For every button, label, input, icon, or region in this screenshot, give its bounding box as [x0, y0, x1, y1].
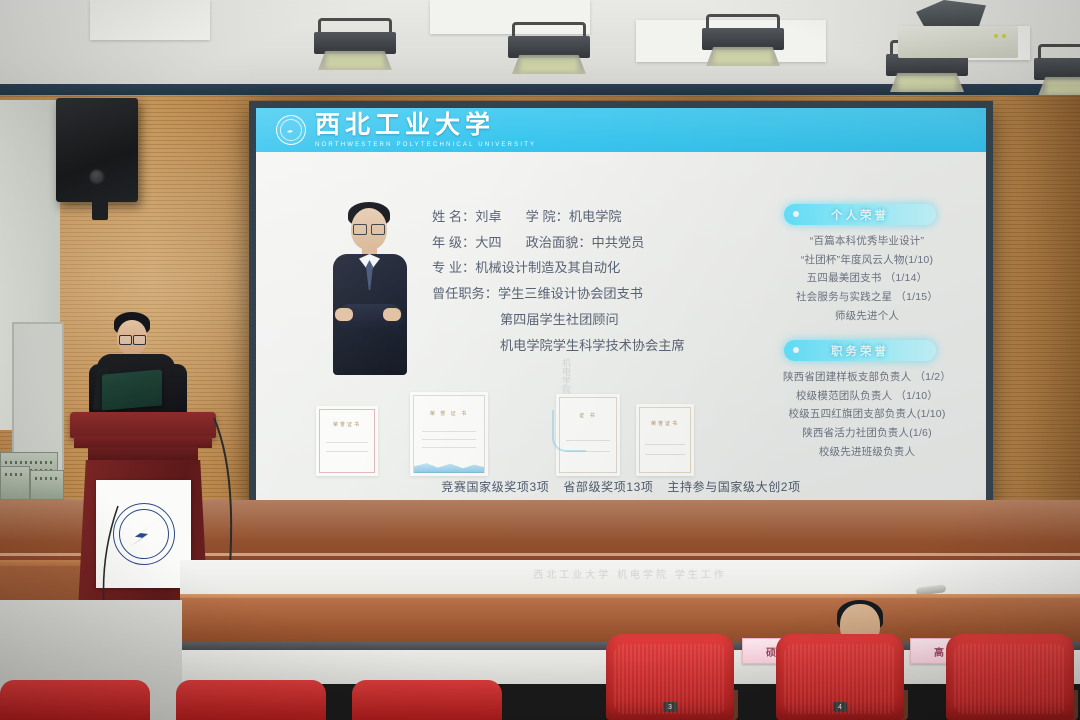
value-grade: 大四 — [475, 235, 501, 250]
stage-light — [506, 22, 592, 74]
slide-footer-stats: 竞赛国家级奖项3项 省部级奖项13项 主持参与国家级大创2项 — [256, 478, 986, 495]
panel-title-duty-honors: 职务荣誉 — [784, 340, 936, 361]
name-card-text: 硕 — [766, 644, 776, 659]
watermark-shape — [552, 410, 586, 452]
pill-dot-icon — [793, 211, 799, 217]
stage-light — [700, 14, 786, 66]
value-position-2: 第四届学生社团顾问 — [432, 307, 752, 333]
glasses-icon — [353, 224, 385, 233]
certificate-image: 荣 誉 证 书 — [410, 392, 488, 476]
portrait-hand — [335, 308, 353, 321]
lecture-hall-scene: 西北工业大学 NORTHWESTERN POLYTECHNICAL UNIVER… — [0, 0, 1080, 720]
list-item: 社会服务与实践之星 （1/15） — [762, 288, 972, 307]
panel-title-personal-honors: 个人荣誉 — [784, 204, 936, 225]
slide-watermark: 机电学院 — [552, 358, 612, 478]
list-item: “社团杯”年度风云人物(1/10) — [762, 251, 972, 270]
certificate-gallery: 荣誉证书 荣 誉 证 书 证 书 — [316, 384, 936, 476]
panel-title-text: 个人荣誉 — [831, 207, 889, 223]
value-name: 刘卓 — [475, 209, 501, 224]
certificate-title: 荣誉证书 — [636, 420, 694, 427]
value-college: 机电学院 — [569, 209, 622, 224]
projection-screen[interactable]: 西北工业大学 NORTHWESTERN POLYTECHNICAL UNIVER… — [256, 108, 986, 509]
info-row-grade: 年 级：大四政治面貌：中共党员 — [432, 230, 752, 256]
wall-speaker — [56, 98, 138, 202]
value-political-status: 中共党员 — [592, 235, 645, 250]
speaker-cone-icon — [89, 169, 105, 185]
info-row-major: 专 业：机械设计制造及其自动化 — [432, 255, 752, 281]
certificate-title: 荣誉证书 — [316, 421, 378, 428]
student-info-block: 姓 名：刘卓学 院：机电学院 年 级：大四政治面貌：中共党员 专 业：机械设计制… — [432, 204, 752, 358]
podium-top-surface — [70, 412, 216, 438]
stat-innovation-projects: 主持参与国家级大创2项 — [667, 480, 800, 494]
seat-number: 3 — [663, 702, 677, 712]
label-name: 姓 名： — [432, 209, 475, 224]
label-major: 专 业： — [432, 260, 475, 275]
value-position-3: 机电学院学生科学技术协会主席 — [432, 333, 752, 359]
certificate-title: 荣 誉 证 书 — [410, 410, 488, 417]
stage-light — [312, 18, 398, 70]
front-chair[interactable] — [0, 680, 150, 720]
equipment-cabinet — [0, 466, 30, 500]
list-item: 五四最美团支书 （1/14） — [762, 269, 972, 288]
audience-wall-text: 西北工业大学 机电学院 学生工作 — [180, 566, 1080, 581]
value-position-1: 学生三维设计协会团支书 — [498, 286, 643, 301]
wall-shadow — [1000, 95, 1080, 565]
student-portrait — [329, 200, 411, 375]
name-card-text: 高 — [934, 644, 944, 659]
projection-screen-frame: 西北工业大学 NORTHWESTERN POLYTECHNICAL UNIVER… — [249, 101, 993, 516]
lighting-rig — [898, 0, 1018, 70]
seat-number: 4 — [833, 702, 847, 712]
certificate-image: 荣誉证书 — [636, 404, 694, 476]
podium-logo-plate — [96, 480, 191, 588]
list-item: “百篇本科优秀毕业设计” — [762, 232, 972, 251]
pill-dot-icon — [793, 347, 799, 353]
front-chair[interactable] — [176, 680, 326, 720]
podium-university-seal-icon — [113, 503, 175, 565]
stat-national-awards: 竞赛国家级奖项3项 — [441, 480, 549, 494]
equipment-cabinet — [30, 470, 64, 500]
label-political-status: 政治面貌： — [526, 235, 592, 250]
front-chair[interactable] — [352, 680, 502, 720]
watermark-text: 机电学院 — [560, 358, 573, 394]
panel-personal-honors: 个人荣誉 “百篇本科优秀毕业设计” “社团杯”年度风云人物(1/10) 五四最美… — [762, 204, 972, 325]
list-item: 师级先进个人 — [762, 307, 972, 326]
auditorium-seat[interactable]: 4 — [776, 634, 904, 720]
label-grade: 年 级： — [432, 235, 475, 250]
auditorium-seat[interactable]: 3 — [606, 634, 734, 720]
value-major: 机械设计制造及其自动化 — [475, 260, 620, 275]
presenter-glasses-icon — [119, 335, 146, 343]
info-row-name: 姓 名：刘卓学 院：机电学院 — [432, 204, 752, 230]
ceiling-panel — [90, 0, 210, 40]
portrait-hand — [383, 308, 401, 321]
stat-provincial-awards: 省部级奖项13项 — [563, 480, 653, 494]
podium-neck — [88, 447, 198, 461]
certificate-image: 荣誉证书 — [316, 406, 378, 476]
personal-honors-list: “百篇本科优秀毕业设计” “社团杯”年度风云人物(1/10) 五四最美团支书 （… — [762, 232, 972, 325]
presentation-slide: 西北工业大学 NORTHWESTERN POLYTECHNICAL UNIVER… — [256, 108, 986, 509]
university-seal-icon — [276, 115, 306, 145]
label-college: 学 院： — [526, 209, 569, 224]
stage-light — [1032, 44, 1080, 96]
auditorium-seat[interactable] — [946, 634, 1074, 720]
university-name-en: NORTHWESTERN POLYTECHNICAL UNIVERSITY — [315, 142, 536, 148]
info-row-positions: 曾任职务：学生三维设计协会团支书 — [432, 281, 752, 307]
speaker-mount — [92, 196, 108, 220]
university-name-cn: 西北工业大学 — [315, 113, 536, 138]
slide-banner: 西北工业大学 NORTHWESTERN POLYTECHNICAL UNIVER… — [256, 108, 986, 152]
label-positions: 曾任职务： — [432, 286, 498, 301]
panel-title-text: 职务荣誉 — [831, 343, 889, 359]
